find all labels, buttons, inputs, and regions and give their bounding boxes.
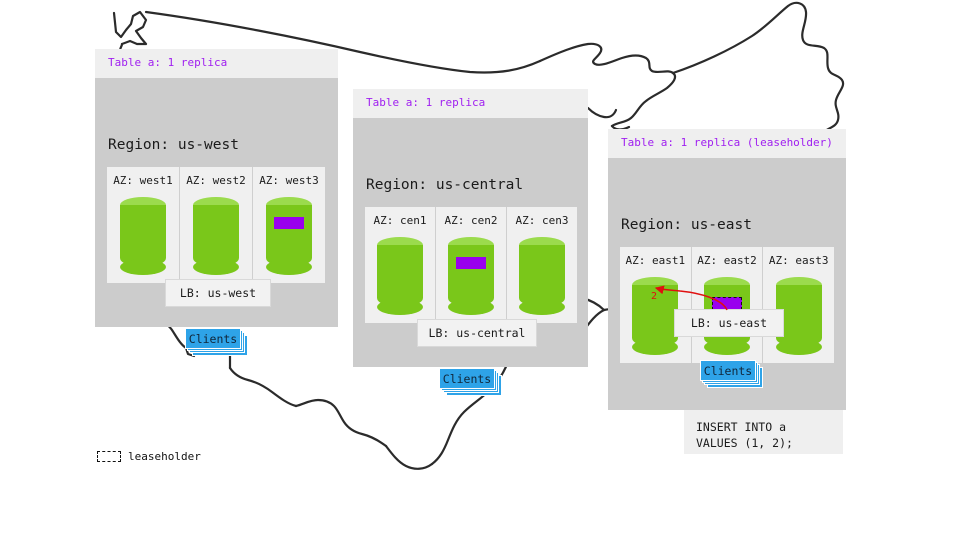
replica-marker [274,217,304,229]
cylinder-bottom [193,259,239,275]
cylinder-body [266,205,312,267]
sql-callout: INSERT INTO a VALUES (1, 2); [684,410,843,454]
region-panel-us-west: Table a: 1 replica Region: us-west AZ: w… [95,49,338,327]
az-label: AZ: cen3 [507,214,577,227]
az-east1[interactable]: AZ: east1 [620,247,692,363]
cylinder-bottom [120,259,166,275]
az-container-us-central: AZ: cen1 AZ: cen2 AZ: cen3 [365,207,577,323]
cylinder-body [377,245,423,307]
diagram-canvas: Table a: 1 replica Region: us-west AZ: w… [0,0,960,540]
cylinder-bottom [632,339,678,355]
az-cen1[interactable]: AZ: cen1 [365,207,436,323]
replica-banner-label: Table a: 1 replica (leaseholder) [621,136,833,149]
cylinder-bottom [266,259,312,275]
region-panel-us-central: Table a: 1 replica Region: us-central AZ… [353,89,588,367]
node-cylinder[interactable] [266,197,312,273]
node-cylinder[interactable] [519,237,565,313]
az-label: AZ: east1 [620,254,691,267]
az-label: AZ: cen2 [436,214,506,227]
node-cylinder[interactable] [448,237,494,313]
cylinder-bottom [776,339,822,355]
region-title: Region: us-east [621,217,752,233]
az-label: AZ: west1 [107,174,179,187]
az-container-us-west: AZ: west1 AZ: west2 AZ: west3 [107,167,325,283]
az-label: AZ: west2 [180,174,252,187]
clients-label: Clients [185,328,241,349]
region-title: Region: us-central [366,177,523,193]
leaseholder-swatch-icon [97,451,121,462]
az-label: AZ: east2 [692,254,763,267]
annotation-step-number: 2 [651,291,657,302]
clients-stack-us-west[interactable]: Clients [185,328,241,349]
node-cylinder[interactable] [120,197,166,273]
az-container-us-east: AZ: east1 AZ: east2 AZ: east3 [620,247,834,363]
clients-label: Clients [439,368,495,389]
node-cylinder[interactable] [632,277,678,353]
replica-marker [456,257,486,269]
cylinder-bottom [448,299,494,315]
region-banner-us-west: Table a: 1 replica [95,49,338,78]
region-title: Region: us-west [108,137,239,153]
node-cylinder[interactable] [193,197,239,273]
cylinder-body [519,245,565,307]
replica-banner-label: Table a: 1 replica [366,96,485,109]
region-panel-us-east: Table a: 1 replica (leaseholder) Region:… [608,129,846,410]
az-east2[interactable]: AZ: east2 [692,247,764,363]
legend-label: leaseholder [128,450,201,463]
az-label: AZ: cen1 [365,214,435,227]
load-balancer-us-east[interactable]: LB: us-east [674,309,784,337]
clients-label: Clients [700,360,756,381]
cylinder-bottom [377,299,423,315]
node-cylinder[interactable] [377,237,423,313]
az-cen3[interactable]: AZ: cen3 [507,207,577,323]
cylinder-bottom [519,299,565,315]
az-west3[interactable]: AZ: west3 [253,167,325,283]
load-balancer-us-west[interactable]: LB: us-west [165,279,271,307]
az-west1[interactable]: AZ: west1 [107,167,180,283]
cylinder-body [448,245,494,307]
az-label: AZ: west3 [253,174,325,187]
az-label: AZ: east3 [763,254,834,267]
cylinder-body [120,205,166,267]
clients-stack-us-central[interactable]: Clients [439,368,495,389]
az-cen2[interactable]: AZ: cen2 [436,207,507,323]
clients-stack-us-east[interactable]: Clients [700,360,756,381]
legend-leaseholder: leaseholder [97,450,201,463]
cylinder-bottom [704,339,750,355]
region-banner-us-east: Table a: 1 replica (leaseholder) [608,129,846,158]
az-east3[interactable]: AZ: east3 [763,247,834,363]
load-balancer-us-central[interactable]: LB: us-central [417,319,537,347]
region-banner-us-central: Table a: 1 replica [353,89,588,118]
az-west2[interactable]: AZ: west2 [180,167,253,283]
replica-banner-label: Table a: 1 replica [108,56,227,69]
cylinder-body [193,205,239,267]
